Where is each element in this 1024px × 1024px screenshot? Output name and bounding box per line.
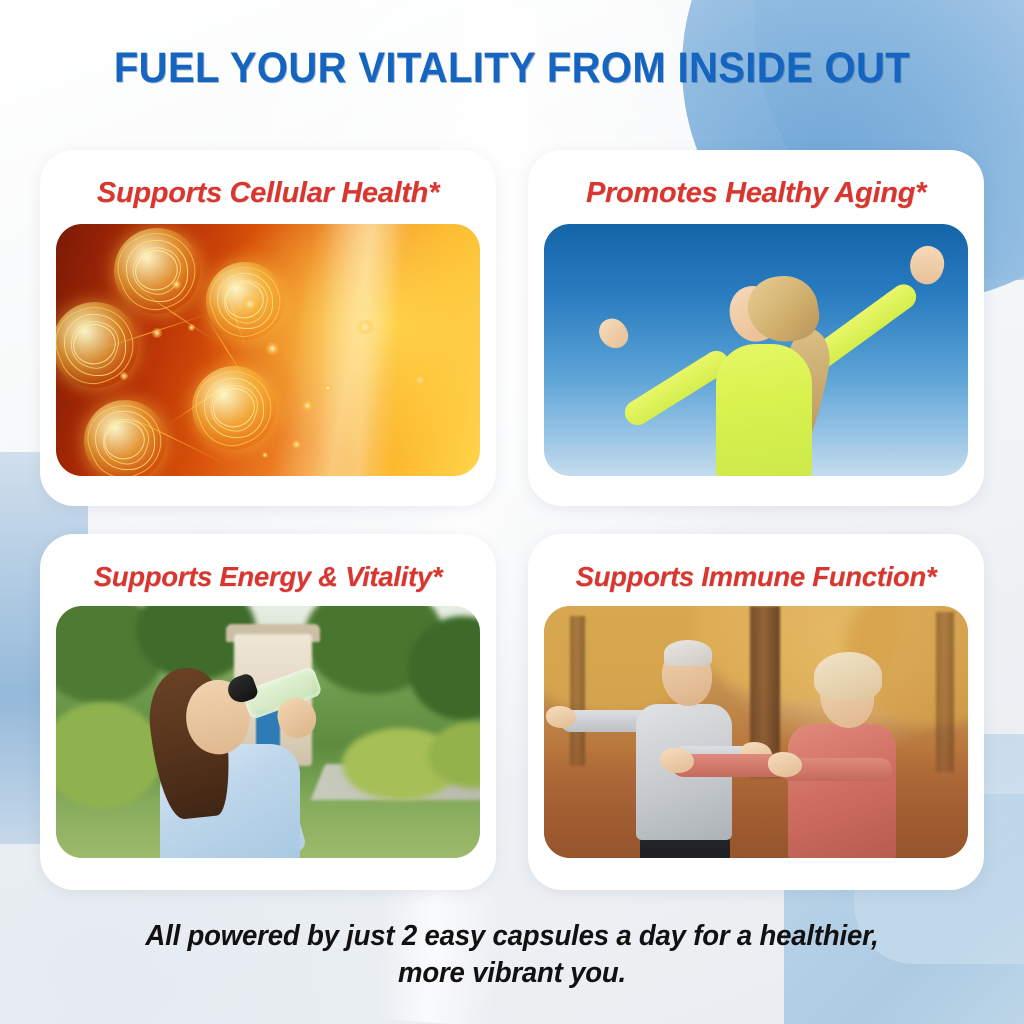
card-title-immune-function: Supports Immune Function* <box>576 562 937 592</box>
page-title: FUEL YOUR VITALITY FROM INSIDE OUT <box>36 44 988 93</box>
energy-vitality-photo <box>56 606 480 858</box>
man-left-hand <box>546 706 576 728</box>
benefit-card-healthy-aging: Promotes Healthy Aging* <box>528 150 984 506</box>
caption-line-1: All powered by just 2 easy capsules a da… <box>145 920 878 952</box>
benefit-card-immune-function: Supports Immune Function* <box>528 534 984 890</box>
benefit-card-grid: Supports Cellular Health* <box>40 150 984 890</box>
footer-caption: All powered by just 2 easy capsules a da… <box>26 918 999 992</box>
bokeh-spark <box>324 384 332 392</box>
card-title-energy-vitality: Supports Energy & Vitality* <box>94 562 442 592</box>
woman-blonde-hair <box>814 652 882 700</box>
shrub-blur <box>56 702 162 808</box>
woman-arms-open-figure <box>544 224 968 476</box>
benefit-card-energy-vitality: Supports Energy & Vitality* <box>40 534 496 890</box>
bokeh-spark <box>302 400 313 411</box>
neon-hoodie-torso <box>716 344 812 476</box>
card-title-healthy-aging: Promotes Healthy Aging* <box>586 178 926 210</box>
right-hand <box>904 241 950 289</box>
woman-left-hand <box>660 748 694 773</box>
cellular-health-photo <box>56 224 480 476</box>
healthy-aging-photo <box>544 224 968 476</box>
bokeh-spark <box>262 452 268 458</box>
bokeh-spark <box>412 374 428 386</box>
molecule-sphere <box>192 366 276 450</box>
caption-line-2: more vibrant you. <box>26 955 999 992</box>
benefit-card-cellular-health: Supports Cellular Health* <box>40 150 496 506</box>
tree-trunk <box>570 616 585 766</box>
bokeh-spark <box>188 324 195 331</box>
immune-function-photo <box>544 606 968 858</box>
bokeh-spark <box>172 280 181 289</box>
bokeh-spark <box>356 320 374 334</box>
molecule-sphere <box>84 400 166 476</box>
bokeh-spark <box>292 440 301 449</box>
left-hand <box>594 313 633 353</box>
bokeh-spark <box>152 328 162 338</box>
man-hair <box>664 640 712 666</box>
card-title-cellular-health: Supports Cellular Health* <box>97 178 439 210</box>
molecule-sphere <box>114 228 200 314</box>
woman-coral-jacket <box>788 724 896 858</box>
bokeh-spark <box>242 296 258 312</box>
woman-right-hand <box>768 752 802 777</box>
bokeh-spark <box>120 372 128 380</box>
bokeh-spark <box>266 342 279 355</box>
infographic-root: FUEL YOUR VITALITY FROM INSIDE OUT Suppo… <box>0 0 1024 1024</box>
